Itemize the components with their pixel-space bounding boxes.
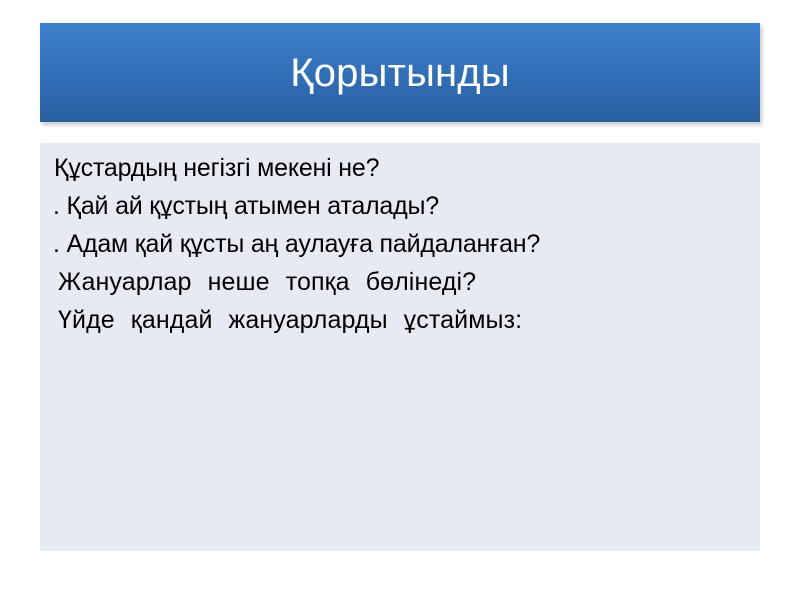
page-title: Қорытынды (290, 52, 510, 94)
list-item: . Қай ай құстың атымен аталады? (40, 187, 760, 225)
question-list: Құстардың негізгі мекені не? . Қай ай құ… (40, 149, 760, 339)
list-item: . Адам қай құсты аң аулауға пайдаланған? (40, 225, 760, 263)
slide-canvas: Қорытынды Құстардың негізгі мекені не? .… (0, 0, 800, 600)
title-banner: Қорытынды (40, 23, 760, 122)
list-item: Үйде қандай жануарларды ұстаймыз: (40, 301, 760, 339)
content-panel: Құстардың негізгі мекені не? . Қай ай құ… (40, 143, 760, 551)
list-item: Құстардың негізгі мекені не? (40, 149, 760, 187)
list-item: Жануарлар неше топқа бөлінеді? (40, 263, 760, 301)
